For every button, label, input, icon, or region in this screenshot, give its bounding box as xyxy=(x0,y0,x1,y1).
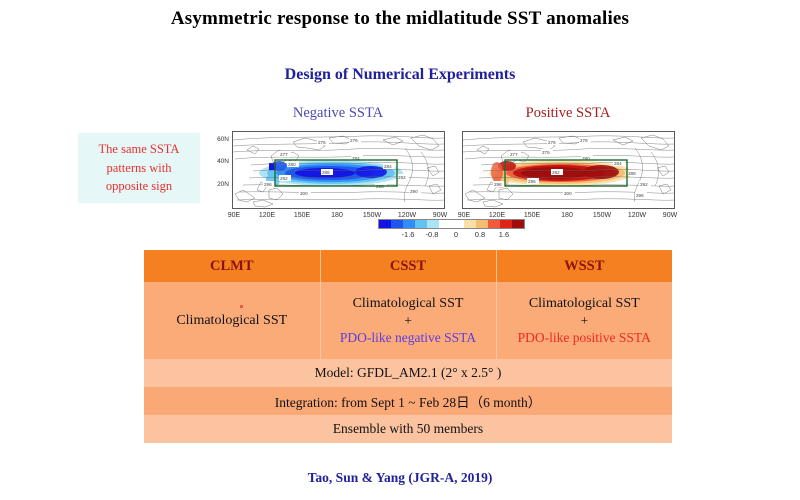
svg-text:276: 276 xyxy=(580,138,588,143)
table-row-ensemble: Ensemble with 50 members xyxy=(144,415,672,443)
cell-csst-description: Climatological SST + PDO-like negative S… xyxy=(320,282,496,359)
svg-text:288: 288 xyxy=(628,171,636,176)
clmt-base-label: Climatological SST xyxy=(144,312,320,330)
svg-text:284: 284 xyxy=(614,161,622,166)
table-row-integration: Integration: from Sept 1 ~ Feb 28日（6 mon… xyxy=(144,387,672,415)
citation-footer: Tao, Sun & Yang (JGR-A, 2019) xyxy=(0,470,800,486)
svg-text:290: 290 xyxy=(410,189,418,194)
map-xlabel-120e-right: 120E xyxy=(484,212,510,219)
map-xlabel-150e: 150E xyxy=(289,212,315,219)
svg-text:288: 288 xyxy=(322,170,330,175)
panel-caption-negative: Negative SSTA xyxy=(238,105,438,122)
note-line-3: opposite sign xyxy=(106,177,172,196)
table-header-row: CLMT CSST WSST xyxy=(144,250,672,282)
svg-text:276: 276 xyxy=(318,140,326,145)
map-frame-negative: 276 276 277 284 280 284 288 292 292 296 … xyxy=(232,131,445,209)
svg-text:296: 296 xyxy=(264,182,272,187)
ensemble-info-row: Ensemble with 50 members xyxy=(144,415,672,443)
map-xlabel-120e: 120E xyxy=(254,212,280,219)
svg-text:280: 280 xyxy=(288,162,296,167)
map-ylabel-60n-right: 60N xyxy=(211,136,229,143)
svg-text:277: 277 xyxy=(280,152,288,157)
svg-text:292: 292 xyxy=(280,176,288,181)
csst-base-label: Climatological SST xyxy=(321,295,496,313)
table-header-clmt: CLMT xyxy=(144,250,320,282)
table-header-wsst: WSST xyxy=(496,250,672,282)
colorbar-tick-pos16: 1.6 xyxy=(499,230,509,239)
colorbar: -1.6 -0.8 0 0.8 1.6 xyxy=(378,219,523,241)
note-line-1: The same SSTA xyxy=(99,140,180,159)
svg-text:276: 276 xyxy=(548,140,556,145)
cell-clmt-description: Climatological SST xyxy=(144,282,320,359)
table-row-model: Model: GFDL_AM2.1 (2° x 2.5° ) xyxy=(144,359,672,387)
map-xlabel-90w-right: 90W xyxy=(657,212,683,219)
map-xlabel-150w-right: 150W xyxy=(589,212,615,219)
map-xlabel-150w: 150W xyxy=(359,212,385,219)
map-xlabel-120w-right: 120W xyxy=(624,212,650,219)
table-header-csst: CSST xyxy=(320,250,496,282)
colorbar-tick-neg16: -1.6 xyxy=(402,230,415,239)
wsst-base-label: Climatological SST xyxy=(497,295,673,313)
csst-anomaly-label: PDO-like negative SSTA xyxy=(321,329,496,346)
model-info-row: Model: GFDL_AM2.1 (2° x 2.5° ) xyxy=(144,359,672,387)
map-xlabel-90w: 90W xyxy=(427,212,453,219)
map-xlabel-120w: 120W xyxy=(394,212,420,219)
colorbar-tick-pos08: 0.8 xyxy=(475,230,485,239)
integration-info-row: Integration: from Sept 1 ~ Feb 28日（6 mon… xyxy=(144,387,672,415)
svg-text:296: 296 xyxy=(528,179,536,184)
section-subtitle: Design of Numerical Experiments xyxy=(0,66,800,84)
svg-text:292: 292 xyxy=(640,182,648,187)
svg-text:284: 284 xyxy=(384,164,392,169)
map-xlabel-150e-right: 150E xyxy=(519,212,545,219)
cell-wsst-description: Climatological SST + PDO-like positive S… xyxy=(496,282,672,359)
map-frame-positive: 276 276 277 276 280 284 292 296 296 288 … xyxy=(462,131,675,209)
table-row: Climatological SST Climatological SST + … xyxy=(144,282,672,359)
wsst-plus-sign: + xyxy=(497,313,673,329)
stray-dot-marker xyxy=(240,305,243,308)
svg-text:300: 300 xyxy=(564,191,572,196)
page-title: Asymmetric response to the midlatitude S… xyxy=(0,8,800,30)
svg-text:296: 296 xyxy=(494,182,502,187)
colorbar-tick-zero: 0 xyxy=(454,230,458,239)
svg-text:292: 292 xyxy=(552,170,560,175)
colorbar-tick-neg08: -0.8 xyxy=(426,230,439,239)
svg-text:276: 276 xyxy=(350,138,358,143)
svg-text:296: 296 xyxy=(636,193,644,198)
svg-text:277: 277 xyxy=(510,152,518,157)
experiment-design-table: CLMT CSST WSST Climatological SST Climat… xyxy=(144,250,672,443)
ssta-note-box: The same SSTA patterns with opposite sig… xyxy=(78,133,200,203)
map-ylabel-40n-right: 40N xyxy=(211,158,229,165)
svg-text:300: 300 xyxy=(300,191,308,196)
panel-caption-positive: Positive SSTA xyxy=(468,105,668,122)
csst-plus-sign: + xyxy=(321,313,496,329)
map-xlabel-90e: 90E xyxy=(221,212,247,219)
map-xlabel-180: 180 xyxy=(324,212,350,219)
svg-text:292: 292 xyxy=(398,175,406,180)
map-xlabel-90e-right: 90E xyxy=(451,212,477,219)
svg-text:276: 276 xyxy=(542,150,550,155)
wsst-anomaly-label: PDO-like positive SSTA xyxy=(497,329,673,346)
map-xlabel-180-right: 180 xyxy=(554,212,580,219)
note-line-2: patterns with xyxy=(107,159,172,178)
map-ylabel-20n-right: 20N xyxy=(211,181,229,188)
colorbar-gradient xyxy=(378,219,525,229)
